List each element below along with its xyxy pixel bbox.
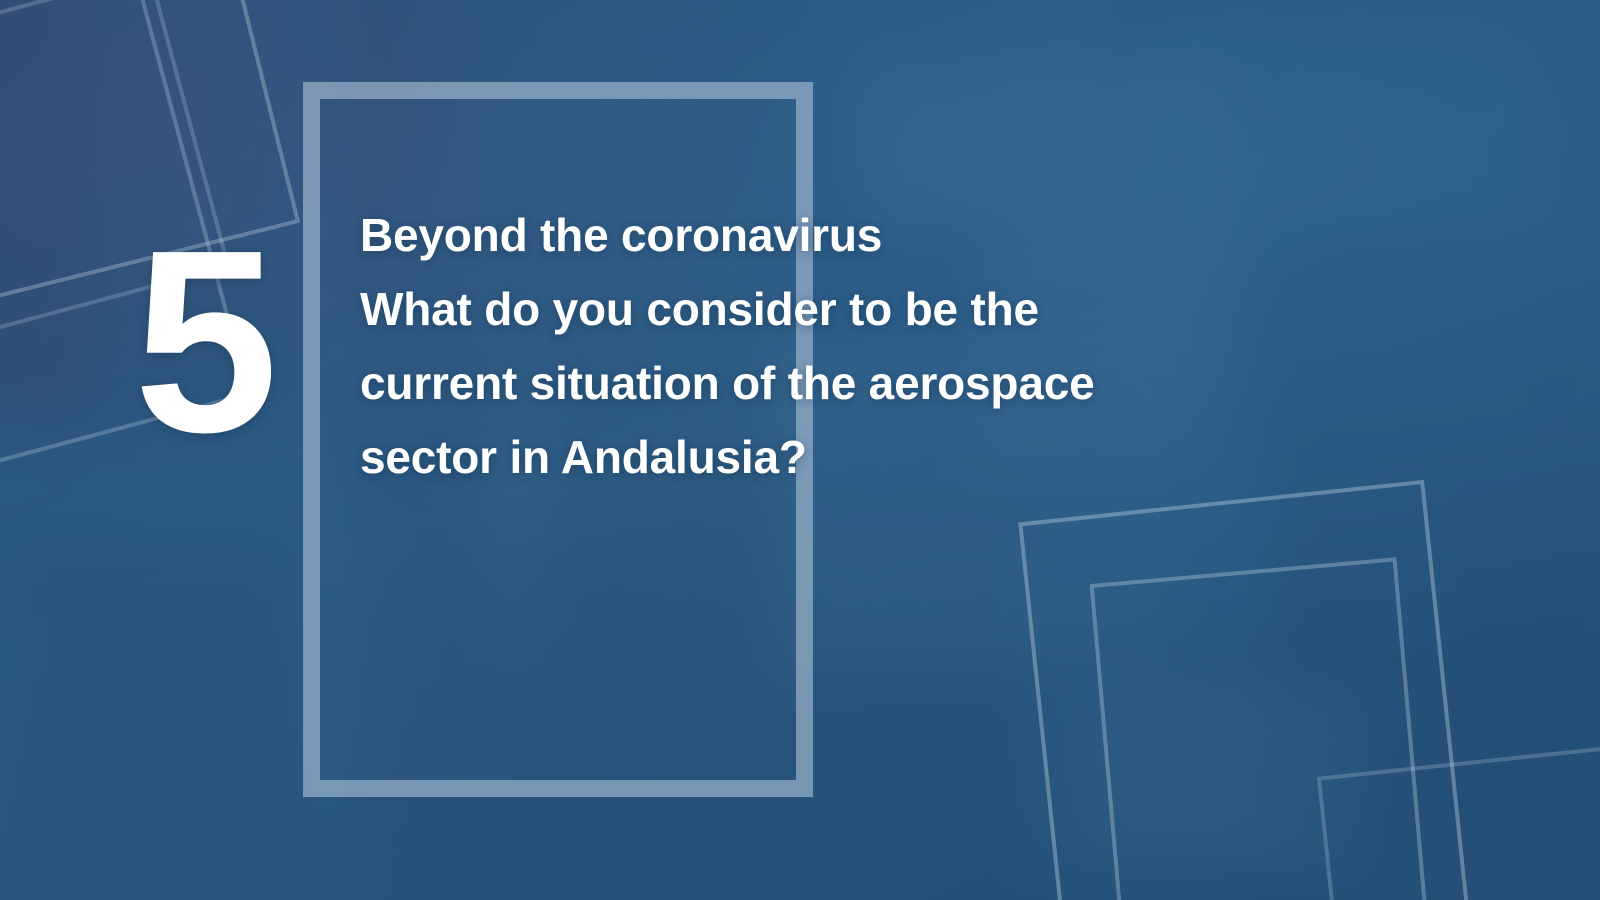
presentation-slide: 5 Beyond the coronavirus What do you con… xyxy=(0,0,1600,900)
headline-line-4: sector in Andalusia? xyxy=(360,420,1240,494)
headline-line-1: Beyond the coronavirus xyxy=(360,198,1240,272)
headline-block: Beyond the coronavirus What do you consi… xyxy=(360,198,1240,494)
headline-line-2: What do you consider to be the xyxy=(360,272,1240,346)
slide-number: 5 xyxy=(118,212,288,472)
headline-line-3: current situation of the aerospace xyxy=(360,346,1240,420)
